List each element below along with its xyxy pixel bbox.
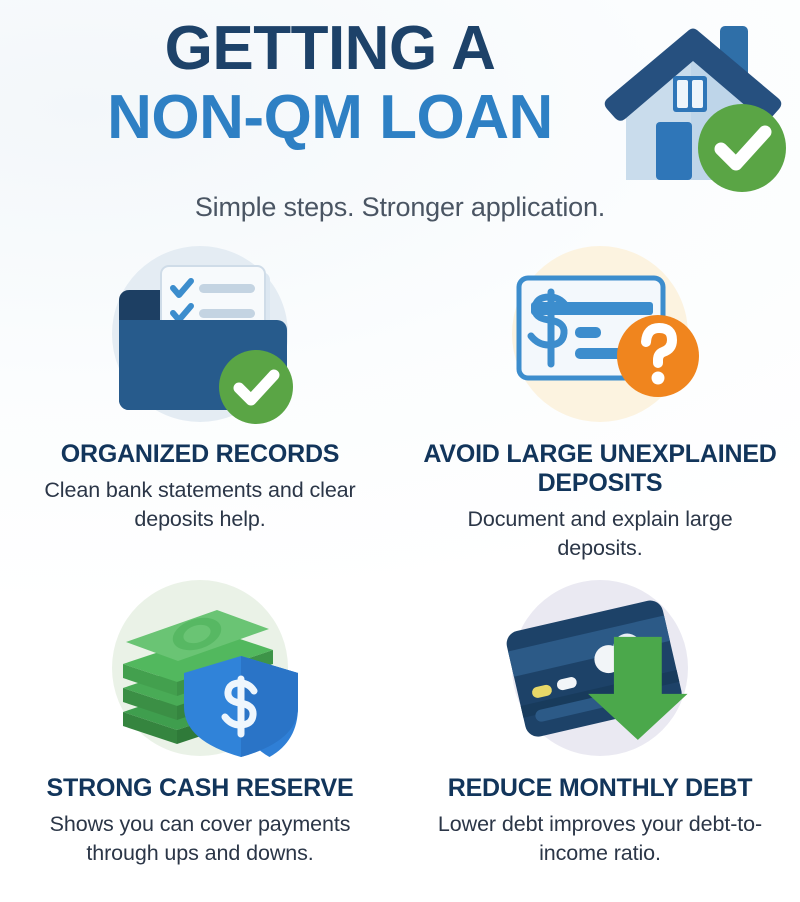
- page-title-line-2: NON-QM LOAN: [0, 81, 660, 150]
- page-title-line-1: GETTING A: [0, 16, 660, 81]
- card-description: Lower debt improves your debt-to-income …: [435, 810, 765, 867]
- title-block: GETTING A NON-QM LOAN: [0, 16, 660, 150]
- credit-card-down-arrow-icon: [485, 576, 715, 772]
- card-avoid-large-unexplained-deposits: AVOID LARGE UNEXPLAINED DEPOSITS Documen…: [400, 238, 800, 572]
- card-strong-cash-reserve: STRONG CASH RESERVE Shows you can cover …: [0, 572, 400, 877]
- card-description: Shows you can cover payments through ups…: [35, 810, 365, 867]
- page-subtitle: Simple steps. Stronger application.: [0, 192, 800, 223]
- cards-grid: ORGANIZED RECORDS Clean bank statements …: [0, 238, 800, 877]
- folder-checklist-check-icon: [85, 242, 315, 438]
- house-with-check-icon: [594, 8, 794, 208]
- card-description: Clean bank statements and clear deposits…: [35, 476, 365, 533]
- card-title: STRONG CASH RESERVE: [47, 774, 354, 803]
- card-reduce-monthly-debt: REDUCE MONTHLY DEBT Lower debt improves …: [400, 572, 800, 877]
- cash-stack-shield-icon: [85, 576, 315, 772]
- check-with-question-mark-icon: [485, 242, 715, 438]
- card-organized-records: ORGANIZED RECORDS Clean bank statements …: [0, 238, 400, 572]
- card-title: REDUCE MONTHLY DEBT: [448, 774, 753, 803]
- card-description: Document and explain large deposits.: [435, 505, 765, 562]
- card-title: AVOID LARGE UNEXPLAINED DEPOSITS: [420, 440, 780, 498]
- card-title: ORGANIZED RECORDS: [61, 440, 340, 469]
- infographic-root: GETTING A NON-QM LOAN: [0, 0, 800, 902]
- header: GETTING A NON-QM LOAN: [0, 0, 800, 240]
